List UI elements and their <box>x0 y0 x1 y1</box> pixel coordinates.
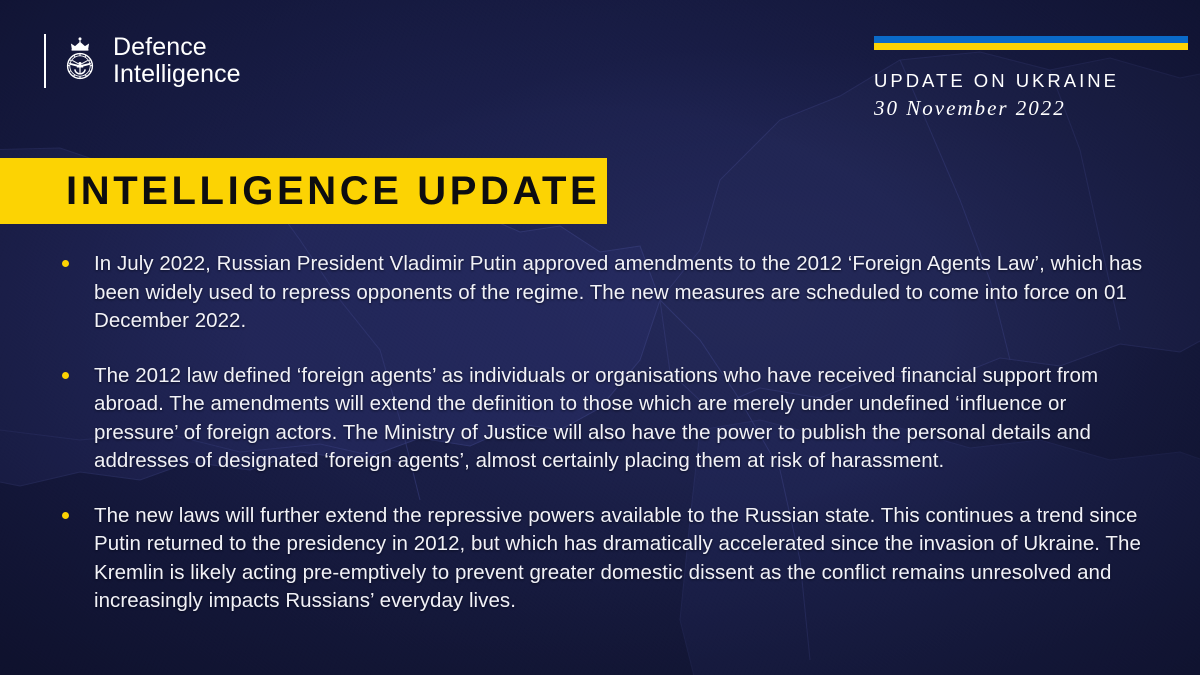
flag-yellow-stripe <box>874 43 1188 50</box>
mod-defence-intelligence-crest-icon <box>59 35 101 87</box>
bullet-text: The new laws will further extend the rep… <box>94 502 1152 616</box>
flag-blue-stripe <box>874 36 1188 43</box>
logo-divider-rule <box>44 34 46 88</box>
ukraine-flag-bar-icon <box>874 36 1188 50</box>
logo-wordmark-line1: Defence <box>113 34 241 61</box>
list-item: The new laws will further extend the rep… <box>62 502 1152 616</box>
bullet-list: In July 2022, Russian President Vladimir… <box>62 250 1152 616</box>
logo-wordmark-line2: Intelligence <box>113 61 241 88</box>
bullet-marker-icon <box>62 502 94 616</box>
bullet-marker-icon <box>62 250 94 336</box>
defence-intelligence-logo: Defence Intelligence <box>44 34 241 88</box>
update-date: 30 November 2022 <box>874 95 1194 122</box>
bullet-text: In July 2022, Russian President Vladimir… <box>94 250 1152 336</box>
intelligence-update-banner: INTELLIGENCE UPDATE <box>0 158 607 224</box>
page-title: INTELLIGENCE UPDATE <box>66 170 600 212</box>
header-right-block: UPDATE ON UKRAINE 30 November 2022 <box>874 36 1194 122</box>
logo-wordmark: Defence Intelligence <box>113 34 241 88</box>
bullet-marker-icon <box>62 362 94 476</box>
list-item: The 2012 law defined ‘foreign agents’ as… <box>62 362 1152 476</box>
update-kicker: UPDATE ON UKRAINE <box>874 70 1194 92</box>
list-item: In July 2022, Russian President Vladimir… <box>62 250 1152 336</box>
bullet-text: The 2012 law defined ‘foreign agents’ as… <box>94 362 1152 476</box>
intelligence-update-poster: Defence Intelligence UPDATE ON UKRAINE 3… <box>0 0 1200 675</box>
